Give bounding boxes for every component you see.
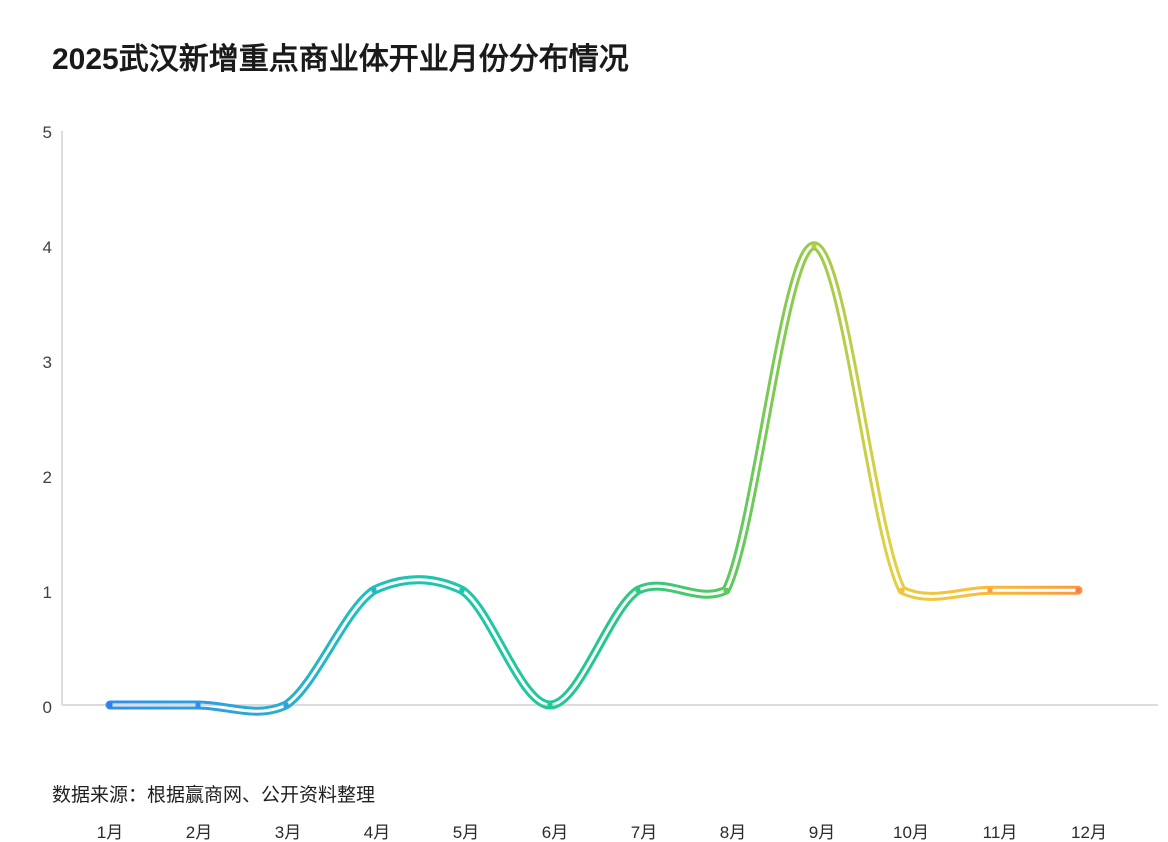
y-tick-label-2: 2 [18, 469, 52, 486]
data-line-series-1 [0, 110, 1168, 830]
data-point-marker [636, 588, 641, 593]
x-tick-label-2: 2月 [159, 824, 239, 841]
y-tick-label-1: 1 [18, 584, 52, 601]
x-tick-label-9: 9月 [782, 824, 862, 841]
x-tick-label-3: 3月 [248, 824, 328, 841]
data-point-marker [108, 703, 113, 708]
plot-area: 5 4 3 2 1 0 1月 2月 3月 4月 5月 6月 7月 8月 9月 1… [0, 110, 1168, 730]
data-point-marker [1076, 588, 1081, 593]
data-point-marker [196, 703, 201, 708]
y-tick-label-4: 4 [18, 239, 52, 256]
source-note: 数据来源：根据赢商网、公开资料整理 [52, 780, 375, 807]
data-point-marker [812, 243, 817, 248]
data-point-marker [900, 588, 905, 593]
x-tick-label-5: 5月 [426, 824, 506, 841]
x-tick-label-6: 6月 [515, 824, 595, 841]
x-tick-label-7: 7月 [604, 824, 684, 841]
x-tick-label-10: 10月 [871, 824, 951, 841]
data-point-marker [460, 588, 465, 593]
data-point-marker [724, 588, 729, 593]
data-point-marker [372, 588, 377, 593]
page-title: 2025武汉新增重点商业体开业月份分布情况 [52, 42, 629, 78]
y-tick-label-5: 5 [18, 124, 52, 141]
x-tick-label-11: 11月 [960, 824, 1040, 841]
x-tick-label-1: 1月 [70, 824, 150, 841]
y-tick-label-0: 0 [18, 699, 52, 716]
data-point-marker [284, 703, 289, 708]
x-tick-label-12: 12月 [1049, 824, 1129, 841]
data-point-marker [988, 588, 993, 593]
x-tick-label-4: 4月 [337, 824, 417, 841]
x-tick-label-8: 8月 [693, 824, 773, 841]
data-point-marker [548, 703, 553, 708]
chart-container: 2025武汉新增重点商业体开业月份分布情况 [0, 0, 1168, 832]
y-tick-label-3: 3 [18, 354, 52, 371]
line-chart-svg [0, 110, 1168, 830]
